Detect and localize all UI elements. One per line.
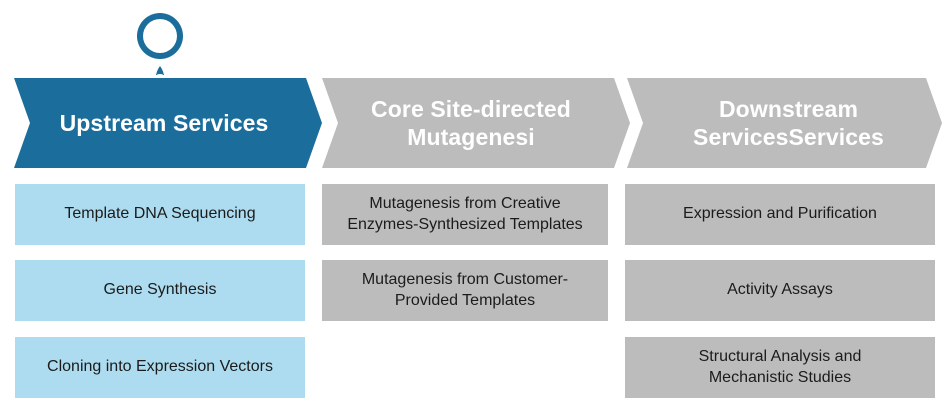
stage-header-label: Core Site-directed Mutagenesi [310,78,632,168]
process-flow-diagram: Upstream Services Core Site-directed Mut… [0,0,944,414]
service-item[interactable]: Cloning into Expression Vectors [15,337,305,398]
stage-header-core[interactable]: Core Site-directed Mutagenesi [310,78,632,168]
service-item[interactable]: Mutagenesis from Creative Enzymes-Synthe… [322,184,608,245]
service-item[interactable]: Mutagenesis from Customer- Provided Temp… [322,260,608,321]
service-item[interactable]: Expression and Purification [625,184,935,245]
stage-header-label: Upstream Services [0,78,322,168]
service-item[interactable]: Structural Analysis and Mechanistic Stud… [625,337,935,398]
stage-header-label: Downstream ServicesServices [615,78,944,168]
service-item[interactable]: Activity Assays [625,260,935,321]
service-item[interactable]: Template DNA Sequencing [15,184,305,245]
stage-header-downstream[interactable]: Downstream ServicesServices [615,78,944,168]
stage-header-upstream[interactable]: Upstream Services [0,78,322,168]
service-item[interactable]: Gene Synthesis [15,260,305,321]
